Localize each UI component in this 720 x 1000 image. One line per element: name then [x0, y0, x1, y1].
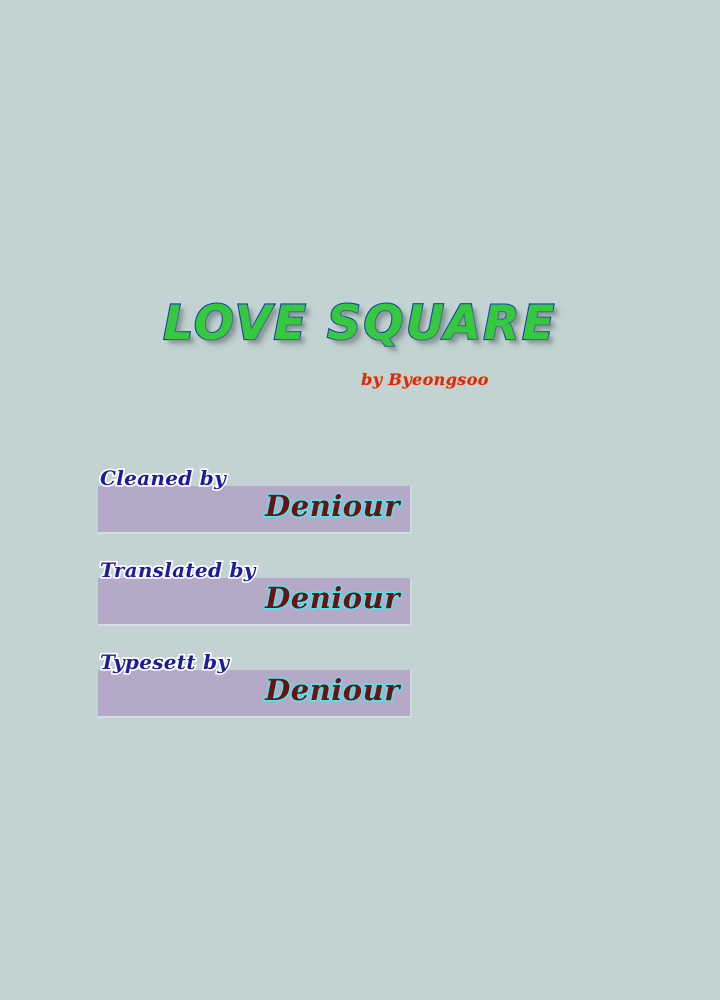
- credit-label-cleaned: Cleaned by: [100, 466, 226, 490]
- credits-list: Cleaned by Deniour Translated by Deniour…: [98, 486, 438, 762]
- credit-row-translated: Translated by Deniour: [98, 578, 412, 626]
- credit-label-typesett: Typesett by: [100, 650, 229, 674]
- credit-label-translated: Translated by: [100, 558, 256, 582]
- credit-row-cleaned: Cleaned by Deniour: [98, 486, 412, 534]
- credit-value-typesett: Deniour: [265, 673, 400, 707]
- byline-row: by Byeongsoo: [0, 370, 720, 390]
- author-byline: by Byeongsoo: [361, 370, 489, 389]
- credits-page: LOVE SQUARE by Byeongsoo Cleaned by Deni…: [0, 0, 720, 1000]
- title-block: LOVE SQUARE: [0, 300, 720, 347]
- credit-value-cleaned: Deniour: [265, 489, 400, 523]
- page-title: LOVE SQUARE: [163, 300, 556, 347]
- credit-value-translated: Deniour: [265, 581, 400, 615]
- credit-row-typesett: Typesett by Deniour: [98, 670, 412, 718]
